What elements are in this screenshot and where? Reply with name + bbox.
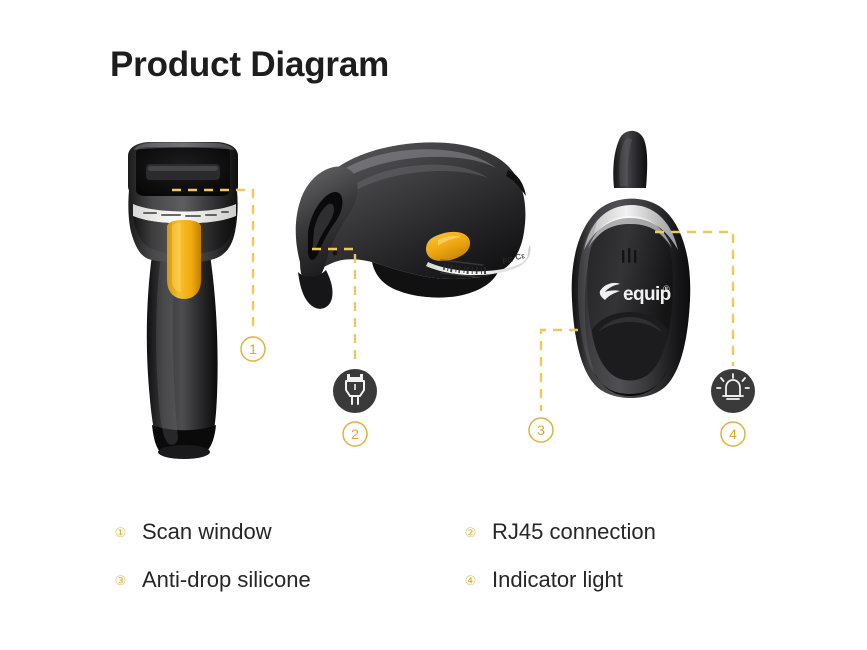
legend-item-rj45-connection: ② RJ45 connection <box>460 519 750 545</box>
callout-4-number: 4 <box>729 426 737 442</box>
legend-item-anti-drop-silicone: ③ Anti-drop silicone <box>110 567 460 593</box>
legend-number-1: ① <box>110 522 131 543</box>
diagram-stage: 1 <box>0 0 867 480</box>
product-diagram-illustration: 1 <box>0 0 867 480</box>
back-view-scanner: equip ® 3 <box>529 131 755 446</box>
side-view-scanner: FC Cε <box>296 142 531 446</box>
legend-row: ① Scan window ② RJ45 connection <box>110 508 750 556</box>
legend-label-2: RJ45 connection <box>492 519 656 545</box>
legend-label-3: Anti-drop silicone <box>142 567 311 593</box>
legend-number-4: ④ <box>460 570 481 591</box>
product-diagram-page: Product Diagram <box>0 0 867 650</box>
callout-2-number: 2 <box>351 426 359 442</box>
front-view-scanner: 1 <box>128 142 265 459</box>
legend-number-3: ③ <box>110 570 131 591</box>
callout-3-line <box>541 330 578 411</box>
callout-2-badge <box>333 369 377 413</box>
legend-item-indicator-light: ④ Indicator light <box>460 567 750 593</box>
legend-label-4: Indicator light <box>492 567 623 593</box>
brand-registered-mark: ® <box>663 284 670 294</box>
svg-text:FC: FC <box>502 255 515 266</box>
legend-row: ③ Anti-drop silicone ④ Indicator light <box>110 556 750 604</box>
callout-1-number: 1 <box>249 341 257 357</box>
callout-4-badge <box>711 369 755 413</box>
svg-text:Cε: Cε <box>515 251 526 262</box>
legend-label-1: Scan window <box>142 519 272 545</box>
legend-number-2: ② <box>460 522 481 543</box>
legend: ① Scan window ② RJ45 connection ③ Anti-d… <box>110 508 750 604</box>
callout-3-number: 3 <box>537 422 545 438</box>
legend-item-scan-window: ① Scan window <box>110 519 460 545</box>
